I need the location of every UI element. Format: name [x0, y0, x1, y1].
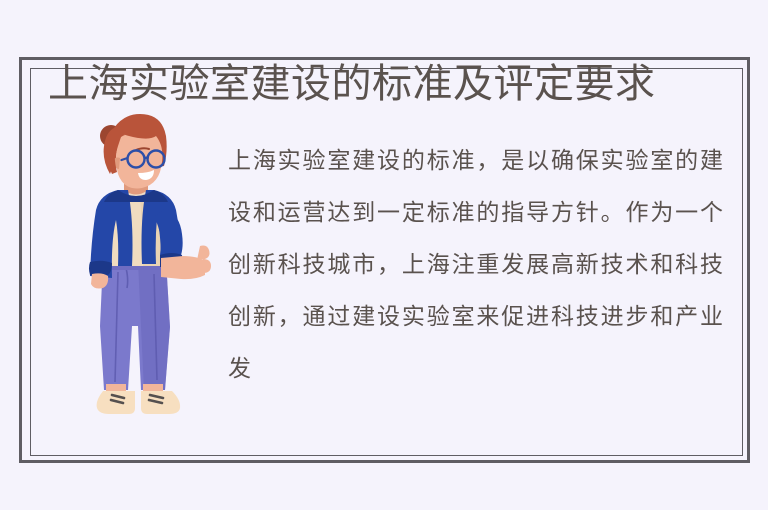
shoes-shape	[97, 391, 181, 414]
character-illustration	[62, 112, 212, 422]
page-title: 上海实验室建设的标准及评定要求	[48, 58, 720, 110]
article-body-text: 上海实验室建设的标准，是以确保实验室的建设和运营达到一定标准的指导方针。作为一个…	[228, 134, 724, 394]
head-shape	[100, 114, 167, 188]
pants-shape	[100, 260, 170, 390]
